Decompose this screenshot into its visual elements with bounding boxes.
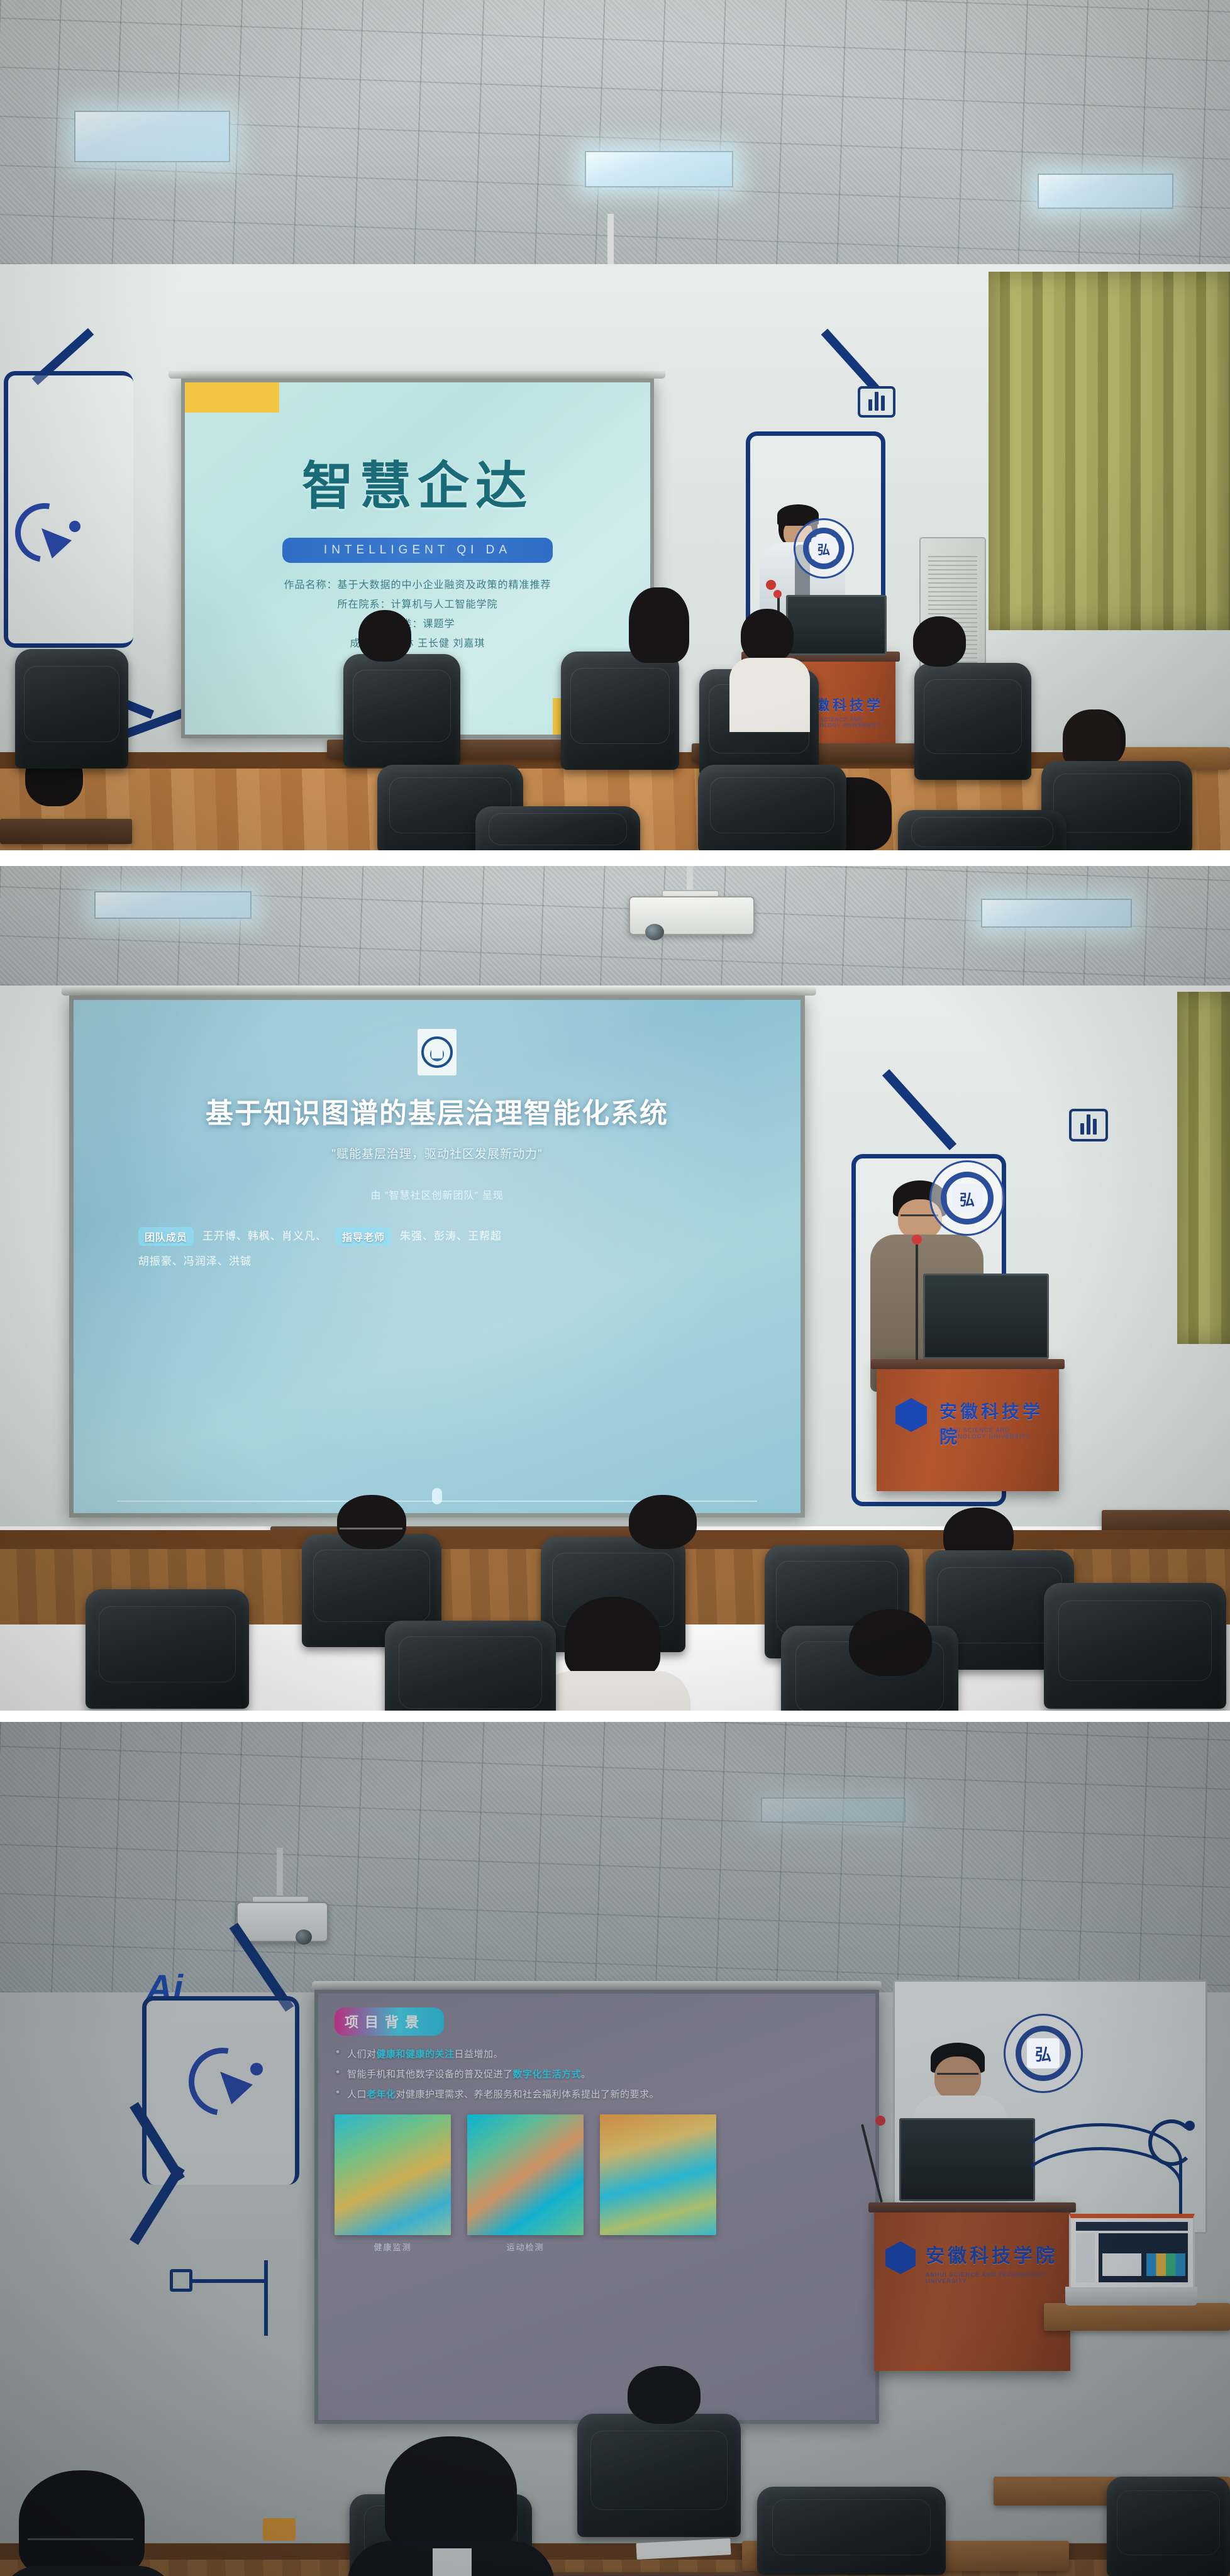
gallery-caption: 运动检测 bbox=[467, 2241, 584, 2253]
audience-chair bbox=[1044, 1583, 1226, 1709]
audience-member bbox=[741, 609, 794, 663]
ceiling-light bbox=[585, 151, 733, 187]
audience-chair bbox=[757, 2487, 946, 2575]
projection-screen: 基于知识图谱的基层治理智能化系统 "赋能基层治理，驱动社区发展新动力" 由 "智… bbox=[69, 996, 805, 1518]
photo-panel-1: 智慧企达 INTELLIGENT QI DA 作品名称：基于大数据的中小企业融资… bbox=[0, 0, 1230, 850]
slide-meta-line: 申报类：课题学 bbox=[284, 614, 551, 634]
audience-chair bbox=[561, 652, 679, 770]
slide-bullet: 人口老年化对健康护理需求、养老服务和社会福利体系提出了新的要求。 bbox=[335, 2087, 859, 2101]
podium-label-en: ANHUI SCIENCE AND TECHNOLOGY UNIVERSITY bbox=[939, 1427, 1059, 1440]
swoosh-dot-icon bbox=[69, 521, 80, 532]
audience-member bbox=[385, 2436, 517, 2550]
ceiling-light bbox=[981, 899, 1132, 928]
university-emblem-icon: 弘 bbox=[929, 1160, 1005, 1236]
gallery-caption: 健康监测 bbox=[335, 2241, 451, 2253]
audience-chair bbox=[914, 663, 1031, 780]
audience-member bbox=[629, 587, 689, 663]
photo-collage: 智慧企达 INTELLIGENT QI DA 作品名称：基于大数据的中小企业融资… bbox=[0, 0, 1230, 2576]
audience-member bbox=[849, 1609, 932, 1676]
collage-divider bbox=[0, 1711, 1230, 1722]
presenter-laptop bbox=[1065, 2287, 1197, 2306]
podium-monitor bbox=[899, 2118, 1035, 2201]
audience-chair bbox=[15, 649, 128, 769]
gallery-card: 健康监测 bbox=[335, 2114, 451, 2253]
gallery-card: 运动检测 bbox=[467, 2114, 584, 2253]
audience-chair bbox=[475, 806, 640, 850]
audience-member bbox=[19, 2470, 145, 2576]
audience-chair bbox=[698, 765, 846, 850]
members-names: 王开博、韩枫、肖义凡、 bbox=[202, 1227, 327, 1243]
audience-member bbox=[565, 1597, 660, 1679]
podium-monitor bbox=[786, 595, 887, 655]
slide-presented-by: 由 "智慧社区创新团队" 呈现 bbox=[370, 1187, 503, 1202]
members-names-line2: 胡振豪、冯润泽、洪铖 bbox=[138, 1252, 750, 1268]
slide-subtitle: "赋能基层治理，驱动社区发展新动力" bbox=[331, 1145, 543, 1162]
photo-panel-3: Ai 项目背景 人们对健康和健康的关注日益增加。 智能手机和其他数字设备的普及促… bbox=[0, 1722, 1230, 2576]
slide-title: 智慧企达 bbox=[302, 444, 533, 519]
slide-meta-line: 成员：王加林 王长健 刘嘉琪 bbox=[284, 634, 551, 653]
ceiling-light bbox=[761, 1797, 906, 1823]
slide-meta-line: 所在院系：计算机与人工智能学院 bbox=[284, 595, 551, 614]
microphone-icon bbox=[912, 1235, 922, 1245]
slide-meta-line: 作品名称：基于大数据的中小企业融资及政策的精准推荐 bbox=[284, 575, 551, 595]
microphone-stand bbox=[916, 1243, 918, 1360]
microphone-icon bbox=[432, 1488, 442, 1504]
university-emblem-icon: 弘 bbox=[1004, 2014, 1083, 2093]
photo-panel-2: 基于知识图谱的基层治理智能化系统 "赋能基层治理，驱动社区发展新动力" 由 "智… bbox=[0, 866, 1230, 1711]
wall-decor-panel bbox=[4, 371, 133, 648]
audience-chair bbox=[343, 654, 460, 767]
advisors-label-pill: 指导老师 bbox=[336, 1227, 391, 1246]
screen-roller bbox=[312, 1981, 882, 1990]
swoosh-dot-icon bbox=[250, 2063, 263, 2075]
slide-section-header: 项目背景 bbox=[335, 2007, 444, 2036]
slide-image-gallery: 健康监测 运动检测 bbox=[335, 2114, 859, 2253]
gallery-card bbox=[600, 2114, 716, 2253]
gallery-image bbox=[335, 2114, 451, 2235]
gallery-image bbox=[600, 2114, 716, 2235]
screen-roller bbox=[62, 987, 816, 996]
glasses-icon bbox=[340, 1528, 402, 1531]
ceiling-light bbox=[94, 891, 252, 919]
podium-monitor bbox=[923, 1274, 1049, 1359]
slide-credits: 团队成员 王开博、韩枫、肖义凡、 指导老师 朱强、彭涛、王帮超 胡振豪、冯润泽、… bbox=[125, 1227, 750, 1268]
slide-2: 基于知识图谱的基层治理智能化系统 "赋能基层治理，驱动社区发展新动力" 由 "智… bbox=[74, 1000, 801, 1513]
gallery-image bbox=[467, 2114, 584, 2235]
ceiling bbox=[0, 0, 1230, 264]
podium-hex-icon bbox=[895, 1398, 927, 1432]
audience-member bbox=[358, 610, 411, 662]
slide-bullet: 智能手机和其他数字设备的普及促进了数字化生活方式。 bbox=[335, 2067, 859, 2080]
audience-member bbox=[337, 1495, 406, 1549]
bar-chart-icon bbox=[858, 386, 895, 418]
slide-corner-accent bbox=[185, 382, 279, 413]
microphone-icon bbox=[773, 590, 782, 598]
slide-bullet: 人们对健康和健康的关注日益增加。 bbox=[335, 2047, 859, 2060]
ceiling-light bbox=[1038, 174, 1173, 209]
audience-member bbox=[1063, 709, 1121, 765]
ceiling bbox=[0, 1722, 1230, 1992]
glasses-icon bbox=[900, 1214, 938, 1218]
audience-member bbox=[628, 2366, 701, 2424]
projection-screen: 项目背景 人们对健康和健康的关注日益增加。 智能手机和其他数字设备的普及促进了数… bbox=[314, 1990, 879, 2424]
university-emblem-icon: 弘 bbox=[794, 518, 854, 579]
window-curtain bbox=[989, 272, 1230, 630]
audience-chair bbox=[385, 1621, 556, 1711]
window-curtain bbox=[1177, 992, 1230, 1344]
audience-chair bbox=[577, 2414, 741, 2537]
slide-subtitle-band: INTELLIGENT QI DA bbox=[282, 538, 553, 563]
presenter-face bbox=[934, 2057, 981, 2101]
ceiling-light bbox=[74, 111, 230, 162]
podium-hex-icon bbox=[885, 2241, 916, 2274]
glasses-icon bbox=[28, 2538, 133, 2541]
podium-label-cn: 安徽科技学院 bbox=[939, 1398, 1059, 1448]
screen-roller bbox=[169, 370, 665, 379]
glasses-icon bbox=[937, 2073, 978, 2076]
slide-title: 基于知识图谱的基层治理智能化系统 bbox=[206, 1091, 668, 1131]
microphone-icon bbox=[875, 2116, 885, 2126]
audience-chair bbox=[1107, 2477, 1230, 2576]
side-desk bbox=[1044, 2303, 1230, 2331]
podium: 安徽科技学院 ANHUI SCIENCE AND TECHNOLOGY UNIV… bbox=[877, 1359, 1059, 1491]
bar-chart-icon bbox=[1069, 1109, 1108, 1141]
collage-divider bbox=[0, 850, 1230, 866]
podium: 安徽科技学院 ANHUI SCIENCE AND TECHNOLOGY UNIV… bbox=[874, 2202, 1070, 2371]
audience-member bbox=[629, 1495, 697, 1549]
audience-chair bbox=[86, 1589, 249, 1709]
podium-label-en: ANHUI SCIENCE AND TECHNOLOGY UNIVERSITY bbox=[926, 2272, 1070, 2284]
audience-chair bbox=[898, 810, 1067, 850]
advisors-names: 朱强、彭涛、王帮超 bbox=[400, 1227, 502, 1243]
audience-member bbox=[913, 616, 966, 667]
university-emblem-icon bbox=[418, 1029, 457, 1075]
slide-3: 项目背景 人们对健康和健康的关注日益增加。 智能手机和其他数字设备的普及促进了数… bbox=[318, 1994, 875, 2420]
laptop-screen bbox=[1069, 2214, 1195, 2289]
podium-label-cn: 安徽科技学院 bbox=[926, 2240, 1058, 2268]
slide-bullet-list: 人们对健康和健康的关注日益增加。 智能手机和其他数字设备的普及促进了数字化生活方… bbox=[335, 2047, 859, 2101]
student-desk bbox=[0, 819, 132, 844]
members-label-pill: 团队成员 bbox=[138, 1227, 194, 1246]
ceiling bbox=[0, 866, 1230, 985]
